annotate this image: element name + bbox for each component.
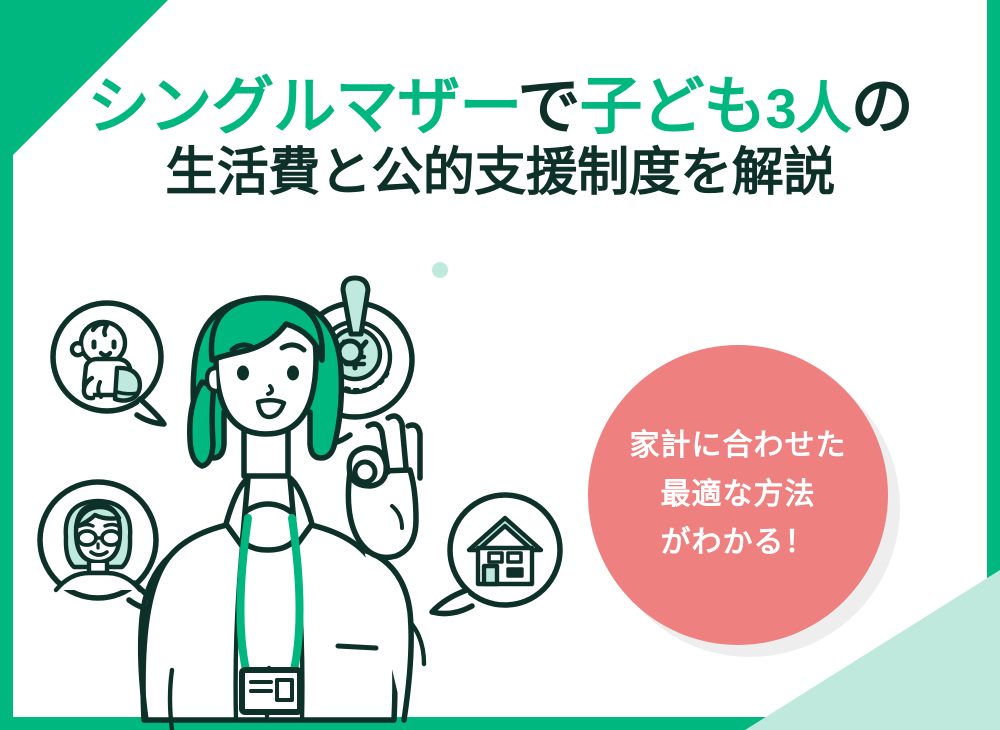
callout-circle: 家計に合わせた 最適な方法 がわかる！ [588,345,888,645]
title-seg-single-mother: シングルマザー [87,72,517,142]
callout-line-3: がわかる！ [661,519,816,568]
title-seg-no: の [851,72,913,142]
title-seg-three-people: 3人 [766,77,851,140]
callout-line-1: 家計に合わせた [630,422,847,471]
bubble-baby [53,303,164,424]
title-line-2: 生活費と公的支援制度を解説 [0,147,1000,199]
title-seg-de: で [518,72,580,142]
id-card-badge [242,668,300,716]
page-title: シングルマザーで子ども3人の 生活費と公的支援制度を解説 [0,76,1000,199]
banner-root: シングルマザーで子ども3人の 生活費と公的支援制度を解説 家計に合わせた 最適な… [0,0,1000,730]
senior-woman-icon [56,501,140,590]
callout-line-2: 最適な方法 [661,471,816,520]
title-seg-children: 子ども [580,72,766,142]
bubble-house [432,495,560,614]
ok-hand-gesture [348,416,420,557]
illustration [20,250,620,730]
dot-accent [432,262,448,278]
title-line-1: シングルマザーで子ども3人の [0,76,1000,139]
bubble-senior [40,482,162,611]
